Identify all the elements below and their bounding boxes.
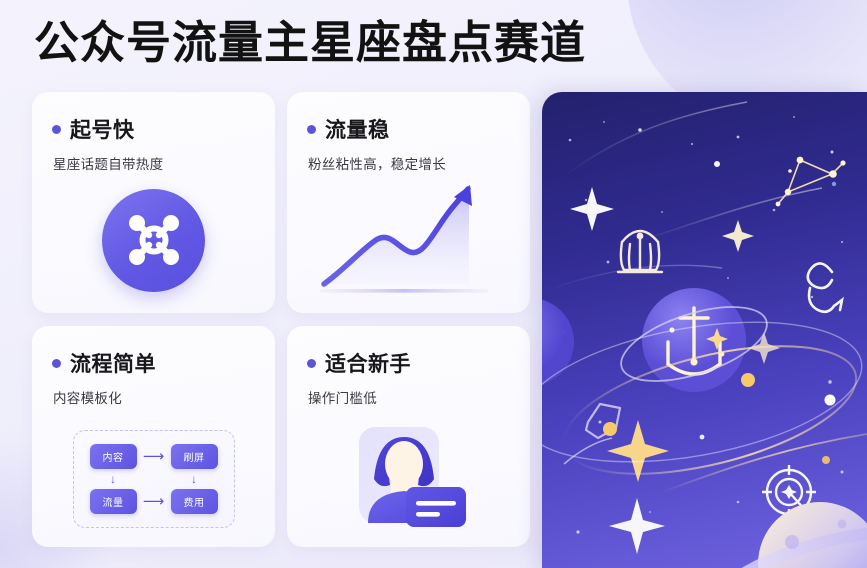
poster-root: 公众号流量主星座盘点赛道 起号快 星座话题自带热度 [0, 0, 867, 568]
person-message-icon [334, 419, 484, 543]
card-header: 流程简单 [52, 348, 255, 378]
bullet-dot-icon [52, 359, 61, 368]
network-node-icon [102, 189, 205, 292]
chart-baseline [320, 289, 488, 293]
network-node-glyph [121, 207, 187, 273]
message-line-1 [416, 501, 456, 506]
comet-trail-1 [562, 102, 747, 178]
orbit-node-1 [603, 422, 617, 436]
saturn-planet [719, 502, 867, 568]
four-point-star-white-2 [609, 498, 665, 554]
flow-diagram: 内容 ⟶ 刷屏 ↓ ↓ 流量 ⟶ 费用 [73, 430, 235, 528]
orbit-node-3 [825, 395, 836, 406]
cosmos-scene [542, 92, 867, 568]
four-point-star-white-1 [570, 187, 614, 231]
card-title: 起号快 [70, 114, 135, 144]
orbit-node-2 [741, 373, 755, 387]
message-line-2 [416, 512, 440, 517]
card-subtitle: 操作门槛低 [308, 387, 510, 407]
flow-arrow-right-top: ⟶ [143, 449, 165, 464]
feature-card-liuchengjiandan[interactable]: 流程简单 内容模板化 内容 ⟶ 刷屏 ↓ ↓ 流量 ⟶ 费用 [32, 326, 275, 547]
four-point-star-cream-1 [722, 220, 754, 252]
orbit-arc-gold [662, 434, 867, 492]
message-card [406, 487, 466, 527]
page-title: 公众号流量主星座盘点赛道 [34, 16, 586, 69]
card-artwork [287, 169, 530, 309]
flow-node-3[interactable]: 流量 [90, 489, 137, 514]
feature-card-shihexinshou[interactable]: 适合新手 操作门槛低 [287, 326, 530, 547]
card-header: 流量稳 [307, 114, 510, 144]
card-subtitle: 内容模板化 [53, 387, 255, 407]
avatar-face [385, 441, 423, 487]
card-artwork [287, 417, 530, 545]
flow-arrow-right-bottom: ⟶ [143, 494, 165, 509]
card-subtitle: 星座话题自带热度 [53, 153, 255, 173]
flow-node-1[interactable]: 内容 [90, 444, 137, 469]
scorpio-glyph-icon [808, 263, 842, 311]
card-artwork: 内容 ⟶ 刷屏 ↓ ↓ 流量 ⟶ 费用 [32, 423, 275, 535]
feature-card-liuliangwen[interactable]: 流量稳 粉丝粘性高，稳定增长 [287, 92, 530, 313]
bullet-dot-icon [307, 359, 316, 368]
card-header: 起号快 [52, 114, 255, 144]
orbit-node-4 [822, 456, 830, 464]
bullet-dot-icon [52, 125, 61, 134]
flow-arrow-down-left: ↓ [110, 473, 116, 485]
feature-card-qihaokuai[interactable]: 起号快 星座话题自带热度 [32, 92, 275, 313]
card-title: 流量稳 [325, 114, 390, 144]
cosmos-illustration-panel [542, 92, 867, 568]
constellation-lines [778, 160, 842, 204]
flow-node-4[interactable]: 费用 [171, 489, 218, 514]
card-title: 适合新手 [325, 348, 411, 378]
feature-card-grid: 起号快 星座话题自带热度 [32, 92, 530, 547]
card-artwork [32, 175, 275, 305]
flow-node-2[interactable]: 刷屏 [171, 444, 218, 469]
growth-chart-icon [306, 172, 511, 307]
flow-arrow-down-right: ↓ [191, 473, 197, 485]
outline-star-trail [564, 438, 612, 464]
bullet-dot-icon [307, 125, 316, 134]
card-header: 适合新手 [307, 348, 510, 378]
card-title: 流程简单 [70, 348, 156, 378]
